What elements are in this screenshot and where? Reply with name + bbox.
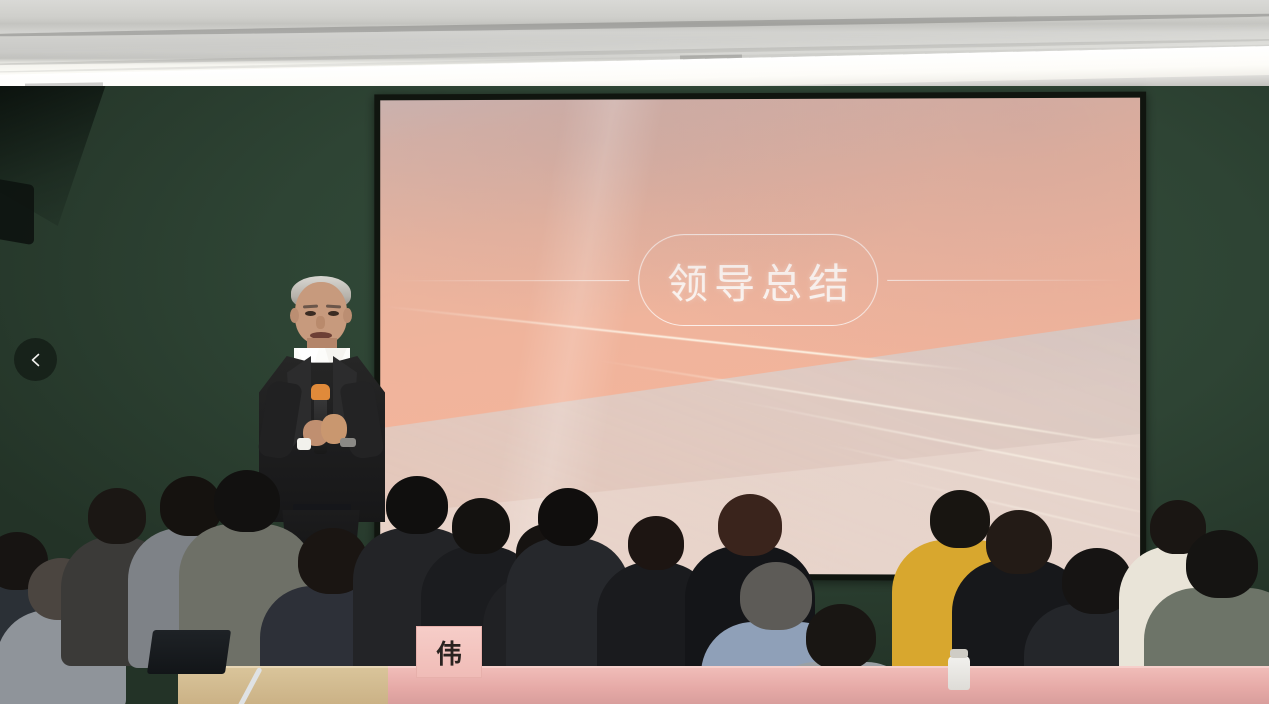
audience-member-head — [718, 494, 782, 556]
presenter-ear — [290, 308, 299, 323]
audience-member-head — [930, 490, 990, 548]
conference-photo-viewer: 领导总结 — [0, 0, 1269, 704]
presenter-nose — [316, 316, 325, 329]
table-surface — [650, 666, 910, 704]
laptop — [147, 630, 231, 674]
slide-rule-right — [887, 279, 1124, 280]
audience-member-head — [1186, 530, 1258, 598]
presenter-ear — [343, 308, 352, 323]
audience-member-head — [214, 470, 280, 532]
placard-name: 伟 — [436, 634, 462, 671]
water-bottle — [948, 656, 970, 690]
conference-tables: 伟 — [0, 652, 1269, 704]
ceiling-band — [0, 11, 1269, 39]
microphone-head — [311, 384, 330, 400]
audience-member-head — [740, 562, 812, 630]
audience-member-head — [986, 510, 1052, 574]
audience-member-head — [538, 488, 598, 546]
previous-photo-button[interactable] — [14, 338, 57, 381]
slide-title: 领导总结 — [661, 249, 855, 309]
audience-member-head — [628, 516, 684, 570]
slide-title-pill: 领导总结 — [638, 233, 878, 325]
audience-member-head — [88, 488, 146, 544]
bottle-cap — [950, 649, 968, 658]
presenter-eye — [305, 311, 316, 316]
chevron-left-icon — [28, 352, 44, 368]
name-placard: 伟 — [416, 626, 482, 678]
wall-speaker-unit — [0, 179, 34, 246]
audience-member-head — [386, 476, 448, 534]
audience-member-head — [452, 498, 510, 554]
presenter-eye — [328, 311, 339, 316]
slide-rule-left — [395, 280, 629, 281]
